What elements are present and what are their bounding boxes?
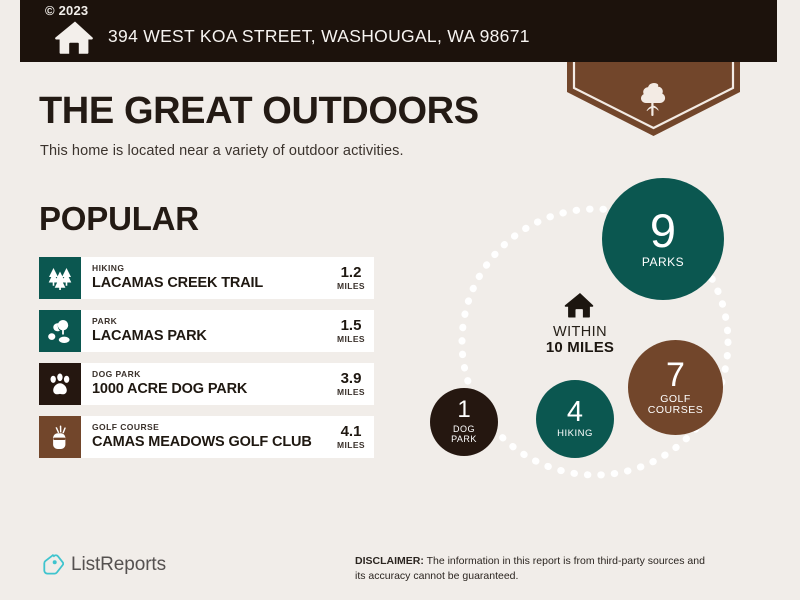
park-tree-path-icon	[39, 310, 81, 352]
list-item-category: HIKING	[92, 264, 337, 273]
list-item-distance-block: 4.1 MILES	[337, 416, 374, 458]
popular-heading: POPULAR	[39, 202, 199, 235]
disclaimer-label: DISCLAIMER:	[355, 555, 424, 567]
list-item-text: HIKING LACAMAS CREEK TRAIL	[81, 257, 337, 299]
tree-icon	[639, 82, 669, 116]
bubble-parks-count: 9	[650, 209, 676, 254]
list-item-name: 1000 ACRE DOG PARK	[92, 381, 337, 398]
diagram-center-label: WITHIN 10 MILES	[525, 292, 635, 357]
bubble-parks[interactable]: 9 PARKS	[602, 178, 724, 300]
bubble-dog-park-label-line2: PARK	[451, 435, 477, 445]
bubble-dog-park-count: 1	[457, 399, 470, 422]
outdoor-report-page: OUTDOOR REPORT © 2023 394 WEST KOA STREE…	[0, 0, 800, 600]
list-item-category: DOG PARK	[92, 370, 337, 379]
listreports-logo-text: ListReports	[71, 554, 166, 576]
header-bar: © 2023 394 WEST KOA STREET, WASHOUGAL, W…	[20, 0, 777, 62]
bubble-golf-courses[interactable]: 7 GOLF COURSES	[628, 340, 723, 435]
list-item-distance: 4.1	[341, 424, 362, 440]
popular-list: HIKING LACAMAS CREEK TRAIL 1.2 MILES	[39, 257, 374, 469]
within-10-miles-diagram: 9 PARKS 7 GOLF COURSES 4 HIKING 1 DOG PA…	[420, 170, 770, 510]
list-item-category: PARK	[92, 317, 337, 326]
disclaimer: DISCLAIMER: The information in this repo…	[355, 554, 707, 584]
list-item-distance-block: 3.9 MILES	[337, 363, 374, 405]
bubble-golf-label-line2: COURSES	[648, 405, 703, 416]
list-item-category: GOLF COURSE	[92, 423, 337, 432]
bubble-hiking[interactable]: 4 HIKING	[536, 380, 614, 458]
list-item[interactable]: PARK LACAMAS PARK 1.5 MILES	[39, 310, 374, 352]
center-line2: 10 MILES	[525, 340, 635, 357]
bubble-hiking-label: HIKING	[557, 429, 593, 439]
list-item-distance: 3.9	[341, 371, 362, 387]
list-item-name: CAMAS MEADOWS GOLF CLUB	[92, 434, 337, 451]
list-item-distance: 1.5	[341, 318, 362, 334]
page-title: THE GREAT OUTDOORS	[39, 92, 479, 130]
list-item-name: LACAMAS PARK	[92, 328, 337, 345]
list-item[interactable]: HIKING LACAMAS CREEK TRAIL 1.2 MILES	[39, 257, 374, 299]
list-item-unit: MILES	[337, 440, 365, 450]
list-item-text: PARK LACAMAS PARK	[81, 310, 337, 352]
paw-print-icon	[39, 363, 81, 405]
house-icon	[564, 292, 596, 318]
pine-trees-icon	[39, 257, 81, 299]
bubble-golf-label: GOLF COURSES	[648, 394, 703, 417]
bubble-parks-label: PARKS	[642, 256, 684, 269]
listreports-home-icon	[42, 553, 64, 576]
list-item-unit: MILES	[337, 387, 365, 397]
house-icon	[54, 20, 96, 54]
list-item-distance: 1.2	[341, 265, 362, 281]
list-item-text: DOG PARK 1000 ACRE DOG PARK	[81, 363, 337, 405]
bubble-dog-park-label: DOG PARK	[451, 425, 477, 444]
property-address: 394 WEST KOA STREET, WASHOUGAL, WA 98671	[108, 26, 530, 47]
list-item-distance-block: 1.5 MILES	[337, 310, 374, 352]
list-item-unit: MILES	[337, 281, 365, 291]
list-item-distance-block: 1.2 MILES	[337, 257, 374, 299]
list-item[interactable]: GOLF COURSE CAMAS MEADOWS GOLF CLUB 4.1 …	[39, 416, 374, 458]
list-item-name: LACAMAS CREEK TRAIL	[92, 275, 337, 292]
bubble-hiking-count: 4	[567, 399, 583, 427]
center-line1: WITHIN	[525, 324, 635, 340]
bubble-dog-park[interactable]: 1 DOG PARK	[430, 388, 498, 456]
copyright-text: © 2023	[45, 4, 88, 17]
list-item-unit: MILES	[337, 334, 365, 344]
list-item[interactable]: DOG PARK 1000 ACRE DOG PARK 3.9 MILES	[39, 363, 374, 405]
list-item-text: GOLF COURSE CAMAS MEADOWS GOLF CLUB	[81, 416, 337, 458]
golf-bag-icon	[39, 416, 81, 458]
page-subtitle: This home is located near a variety of o…	[40, 143, 404, 159]
listreports-logo[interactable]: ListReports	[42, 553, 166, 576]
bubble-golf-count: 7	[666, 359, 685, 391]
